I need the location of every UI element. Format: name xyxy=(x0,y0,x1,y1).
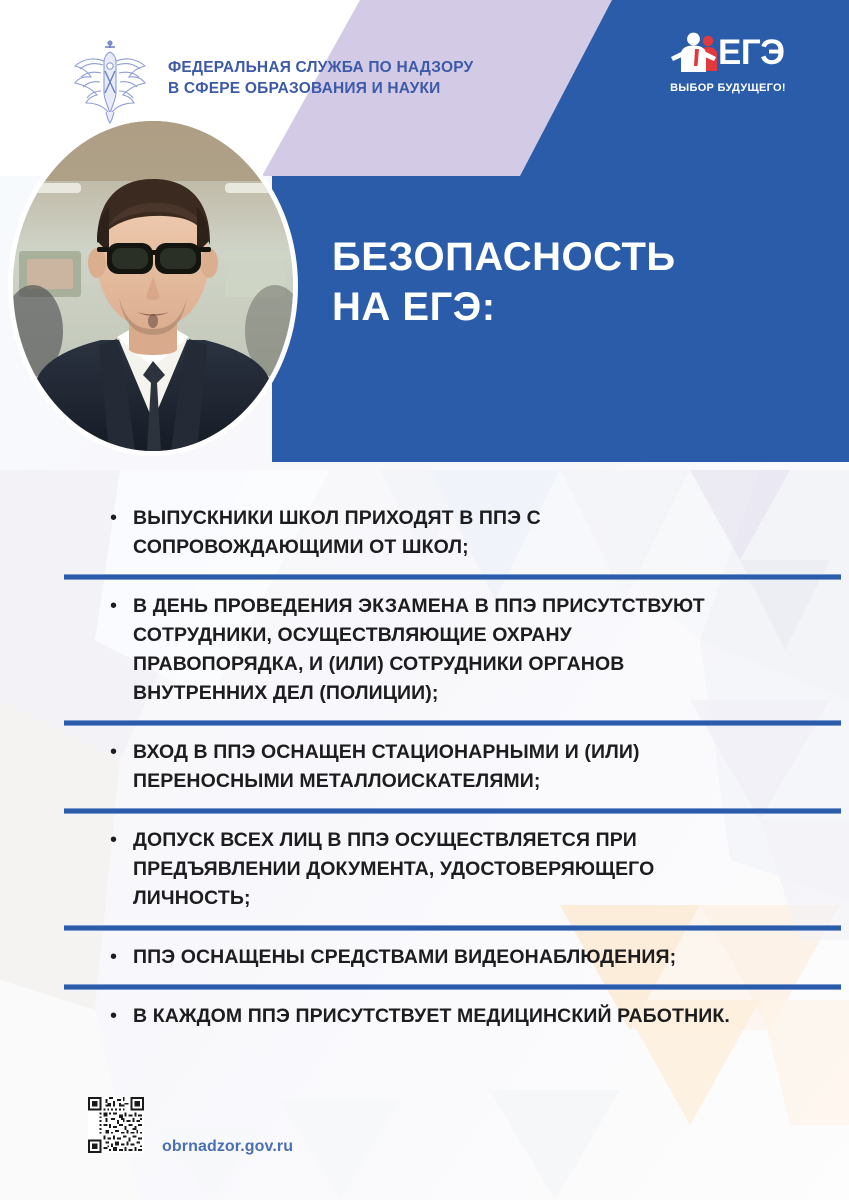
portrait-ring xyxy=(8,116,298,456)
list-item: • ВХОД В ППЭ ОСНАЩЕН СТАЦИОНАРНЫМИ И (ИЛ… xyxy=(0,726,849,808)
agency-name-line1: ФЕДЕРАЛЬНАЯ СЛУЖБА ПО НАДЗОРУ xyxy=(168,57,473,78)
list-bullet: • xyxy=(110,504,133,533)
list-item-text: ДОПУСК ВСЕХ ЛИЦ В ППЭ ОСУЩЕСТВЛЯЕТСЯ ПРИ… xyxy=(133,826,733,913)
list-item: • В КАЖДОМ ППЭ ПРИСУТСТВУЕТ МЕДИЦИНСКИЙ … xyxy=(0,990,849,1043)
page-title-line1: БЕЗОПАСНОСТЬ xyxy=(332,232,676,282)
website-link[interactable]: obrnadzor.gov.ru xyxy=(162,1138,293,1156)
page-title-line2: НА ЕГЭ: xyxy=(332,282,676,332)
list-bullet: • xyxy=(110,943,133,972)
list-bullet: • xyxy=(110,738,133,767)
ege-logo: ЕГЭ ВЫБОР БУДУЩЕГО! xyxy=(668,32,788,104)
list-item-text: ВЫПУСКНИКИ ШКОЛ ПРИХОДЯТ В ППЭ С СОПРОВО… xyxy=(133,504,733,562)
ege-wordmark: ЕГЭ xyxy=(718,32,785,74)
list-item-text: В ДЕНЬ ПРОВЕДЕНИЯ ЭКЗАМЕНА В ППЭ ПРИСУТС… xyxy=(133,592,733,708)
list-item: • ППЭ ОСНАЩЕНЫ СРЕДСТВАМИ ВИДЕОНАБЛЮДЕНИ… xyxy=(0,931,849,984)
list-bullet: • xyxy=(110,1002,133,1031)
list-item: • ДОПУСК ВСЕХ ЛИЦ В ППЭ ОСУЩЕСТВЛЯЕТСЯ П… xyxy=(0,814,849,925)
poster-footer: obrnadzor.gov.ru xyxy=(0,1096,849,1200)
list-item-text: ВХОД В ППЭ ОСНАЩЕН СТАЦИОНАРНЫМИ И (ИЛИ)… xyxy=(133,738,733,796)
ege-tagline: ВЫБОР БУДУЩЕГО! xyxy=(668,82,788,94)
list-bullet: • xyxy=(110,826,133,855)
security-guard-photo-icon xyxy=(13,121,293,451)
list-bullet: • xyxy=(110,592,133,621)
safety-rules-list: • ВЫПУСКНИКИ ШКОЛ ПРИХОДЯТ В ППЭ С СОПРО… xyxy=(0,492,849,1043)
page-title: БЕЗОПАСНОСТЬ НА ЕГЭ: xyxy=(332,232,676,332)
rosobrnadzor-emblem-icon xyxy=(72,38,148,124)
portrait xyxy=(8,116,298,456)
list-item: • ВЫПУСКНИКИ ШКОЛ ПРИХОДЯТ В ППЭ С СОПРО… xyxy=(0,492,849,574)
list-item-text: ППЭ ОСНАЩЕНЫ СРЕДСТВАМИ ВИДЕОНАБЛЮДЕНИЯ; xyxy=(133,943,676,972)
agency-name: ФЕДЕРАЛЬНАЯ СЛУЖБА ПО НАДЗОРУ В СФЕРЕ ОБ… xyxy=(168,57,473,99)
poster-root: ФЕДЕРАЛЬНАЯ СЛУЖБА ПО НАДЗОРУ В СФЕРЕ ОБ… xyxy=(0,0,849,1200)
agency-name-line2: В СФЕРЕ ОБРАЗОВАНИЯ И НАУКИ xyxy=(168,78,473,99)
ege-three-figures-icon xyxy=(668,32,720,74)
list-item: • В ДЕНЬ ПРОВЕДЕНИЯ ЭКЗАМЕНА В ППЭ ПРИСУ… xyxy=(0,580,849,720)
qr-code-icon[interactable] xyxy=(88,1097,144,1153)
list-item-text: В КАЖДОМ ППЭ ПРИСУТСТВУЕТ МЕДИЦИНСКИЙ РА… xyxy=(133,1002,730,1031)
